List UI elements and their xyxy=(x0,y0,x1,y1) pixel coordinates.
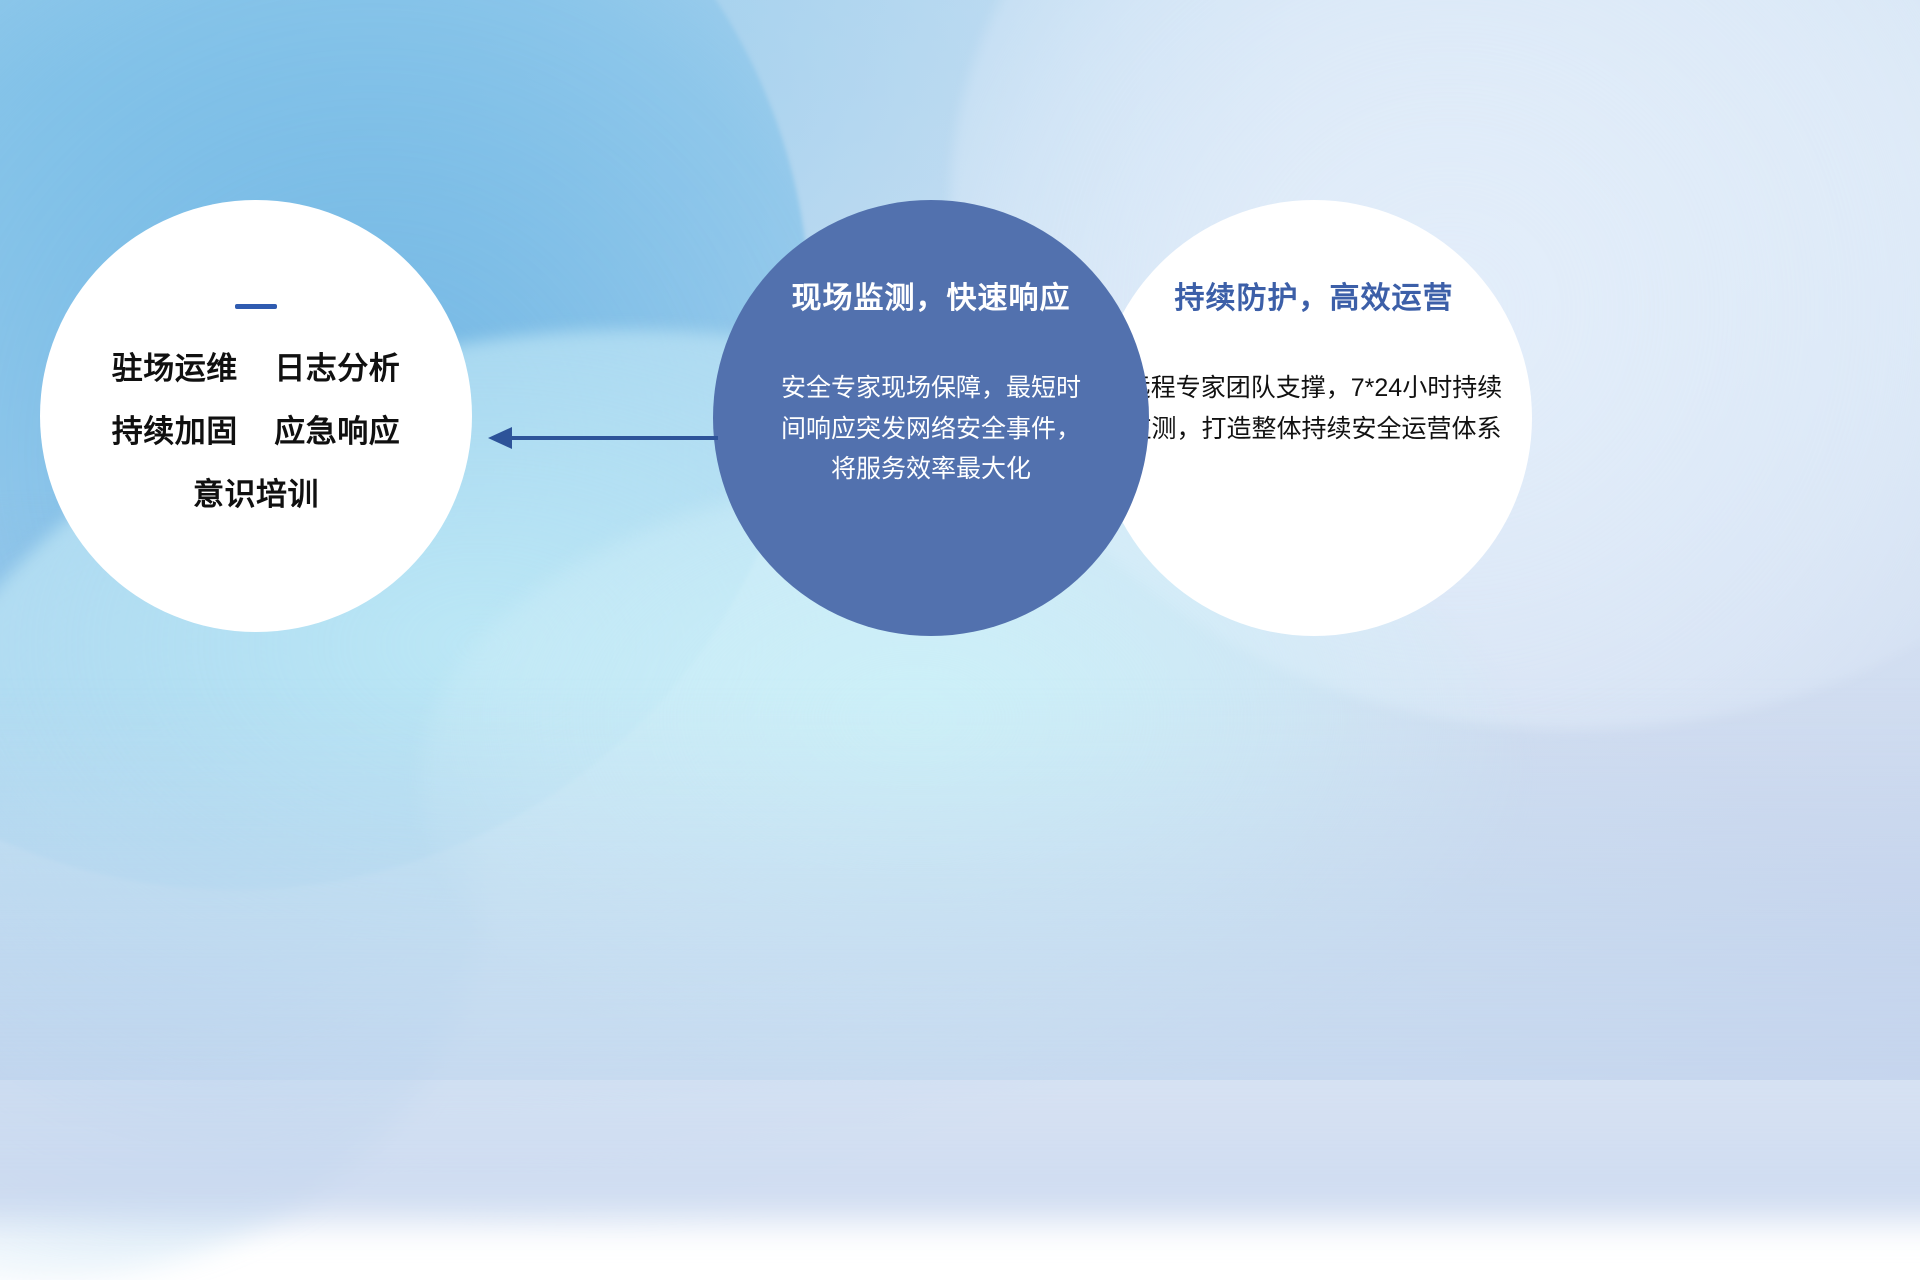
right-circle-title: 持续防护，高效运营 xyxy=(1175,284,1454,314)
left-circle-line-2: 持续加固 应急响应 xyxy=(112,416,400,447)
divider-dash xyxy=(235,304,277,309)
left-circle-line-3: 意识培训 xyxy=(193,479,319,510)
arrow-left-icon xyxy=(482,418,722,458)
slide-background: 驻场运维 日志分析 持续加固 应急响应 意识培训 持续防护，高效运营 远程专家团… xyxy=(0,0,1920,1080)
background-wave-5 xyxy=(0,700,1920,1220)
middle-circle-card[interactable]: 现场监测，快速响应 安全专家现场保障，最短时间响应突发网络安全事件，将服务效率最… xyxy=(713,200,1149,636)
right-circle-card[interactable]: 持续防护，高效运营 远程专家团队支撑，7*24小时持续监测，打造整体持续安全运营… xyxy=(1096,200,1532,636)
middle-circle-body: 安全专家现场保障，最短时间响应突发网络安全事件，将服务效率最大化 xyxy=(776,368,1086,490)
right-circle-body: 远程专家团队支撑，7*24小时持续监测，打造整体持续安全运营体系 xyxy=(1125,368,1503,449)
left-circle-line-1: 驻场运维 日志分析 xyxy=(112,353,400,384)
left-circle-card[interactable]: 驻场运维 日志分析 持续加固 应急响应 意识培训 xyxy=(40,200,472,632)
middle-circle-title: 现场监测，快速响应 xyxy=(792,284,1071,314)
flow-arrow-left xyxy=(482,418,722,458)
background-wave-6 xyxy=(0,520,480,1280)
